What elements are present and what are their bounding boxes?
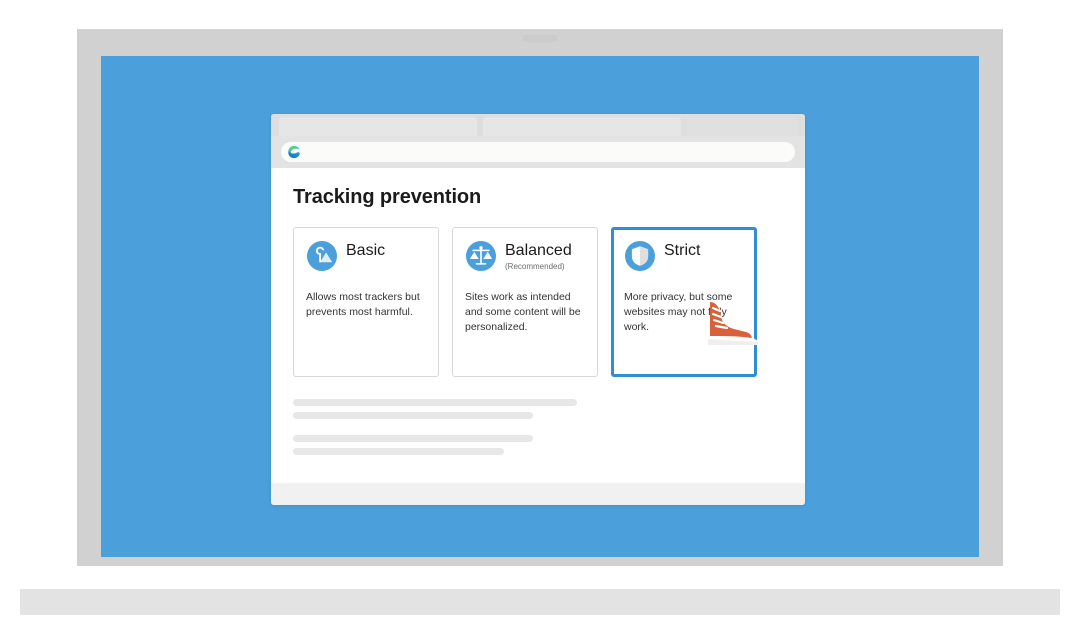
option-head-text-balanced: Balanced (Recommended) (505, 240, 572, 271)
placeholder-group-2 (293, 435, 783, 455)
option-label-basic: Basic (346, 243, 385, 260)
placeholder-bar (293, 448, 504, 455)
option-card-basic[interactable]: Basic Allows most trackers but prevents … (293, 227, 439, 377)
laptop-camera-icon (523, 35, 557, 43)
browser-tab-1[interactable] (279, 117, 477, 136)
browser-tab-2[interactable] (483, 117, 681, 136)
settings-page-content: Tracking prevention Basic (271, 168, 805, 483)
laptop-base (20, 589, 1060, 615)
placeholder-content-block (293, 399, 783, 455)
laptop-screen: Tracking prevention Basic (101, 56, 979, 557)
option-head-text-strict: Strict (664, 240, 700, 262)
page-title: Tracking prevention (293, 186, 783, 209)
page-footer-strip (271, 483, 805, 505)
placeholder-bar (293, 399, 577, 406)
option-card-strict[interactable]: Strict More privacy, but some websites m… (611, 227, 757, 377)
option-head-basic: Basic (306, 240, 426, 272)
browser-tab-strip (271, 114, 805, 136)
tracking-prevention-options: Basic Allows most trackers but prevents … (293, 227, 783, 377)
option-card-balanced[interactable]: Balanced (Recommended) Sites work as int… (452, 227, 598, 377)
browser-tab-3[interactable] (687, 117, 797, 136)
option-sub-balanced: (Recommended) (505, 262, 572, 271)
option-description-basic: Allows most trackers but prevents most h… (306, 290, 426, 320)
edge-logo-icon (287, 145, 301, 159)
option-description-balanced: Sites work as intended and some content … (465, 290, 585, 335)
option-label-strict: Strict (664, 243, 700, 260)
trackers-icon (306, 240, 338, 272)
option-head-balanced: Balanced (Recommended) (465, 240, 585, 272)
address-input[interactable] (307, 142, 789, 162)
shield-icon (624, 240, 656, 272)
option-description-strict: More privacy, but some websites may not … (624, 290, 744, 335)
placeholder-group-1 (293, 399, 783, 419)
placeholder-bar (293, 435, 533, 442)
option-label-balanced: Balanced (505, 243, 572, 260)
option-head-text-basic: Basic (346, 240, 385, 262)
address-bar[interactable] (281, 142, 795, 162)
browser-window: Tracking prevention Basic (271, 114, 805, 505)
option-head-strict: Strict (624, 240, 744, 272)
scales-icon (465, 240, 497, 272)
placeholder-bar (293, 412, 533, 419)
laptop-illustration: Tracking prevention Basic (0, 0, 1080, 641)
browser-toolbar (271, 136, 805, 168)
